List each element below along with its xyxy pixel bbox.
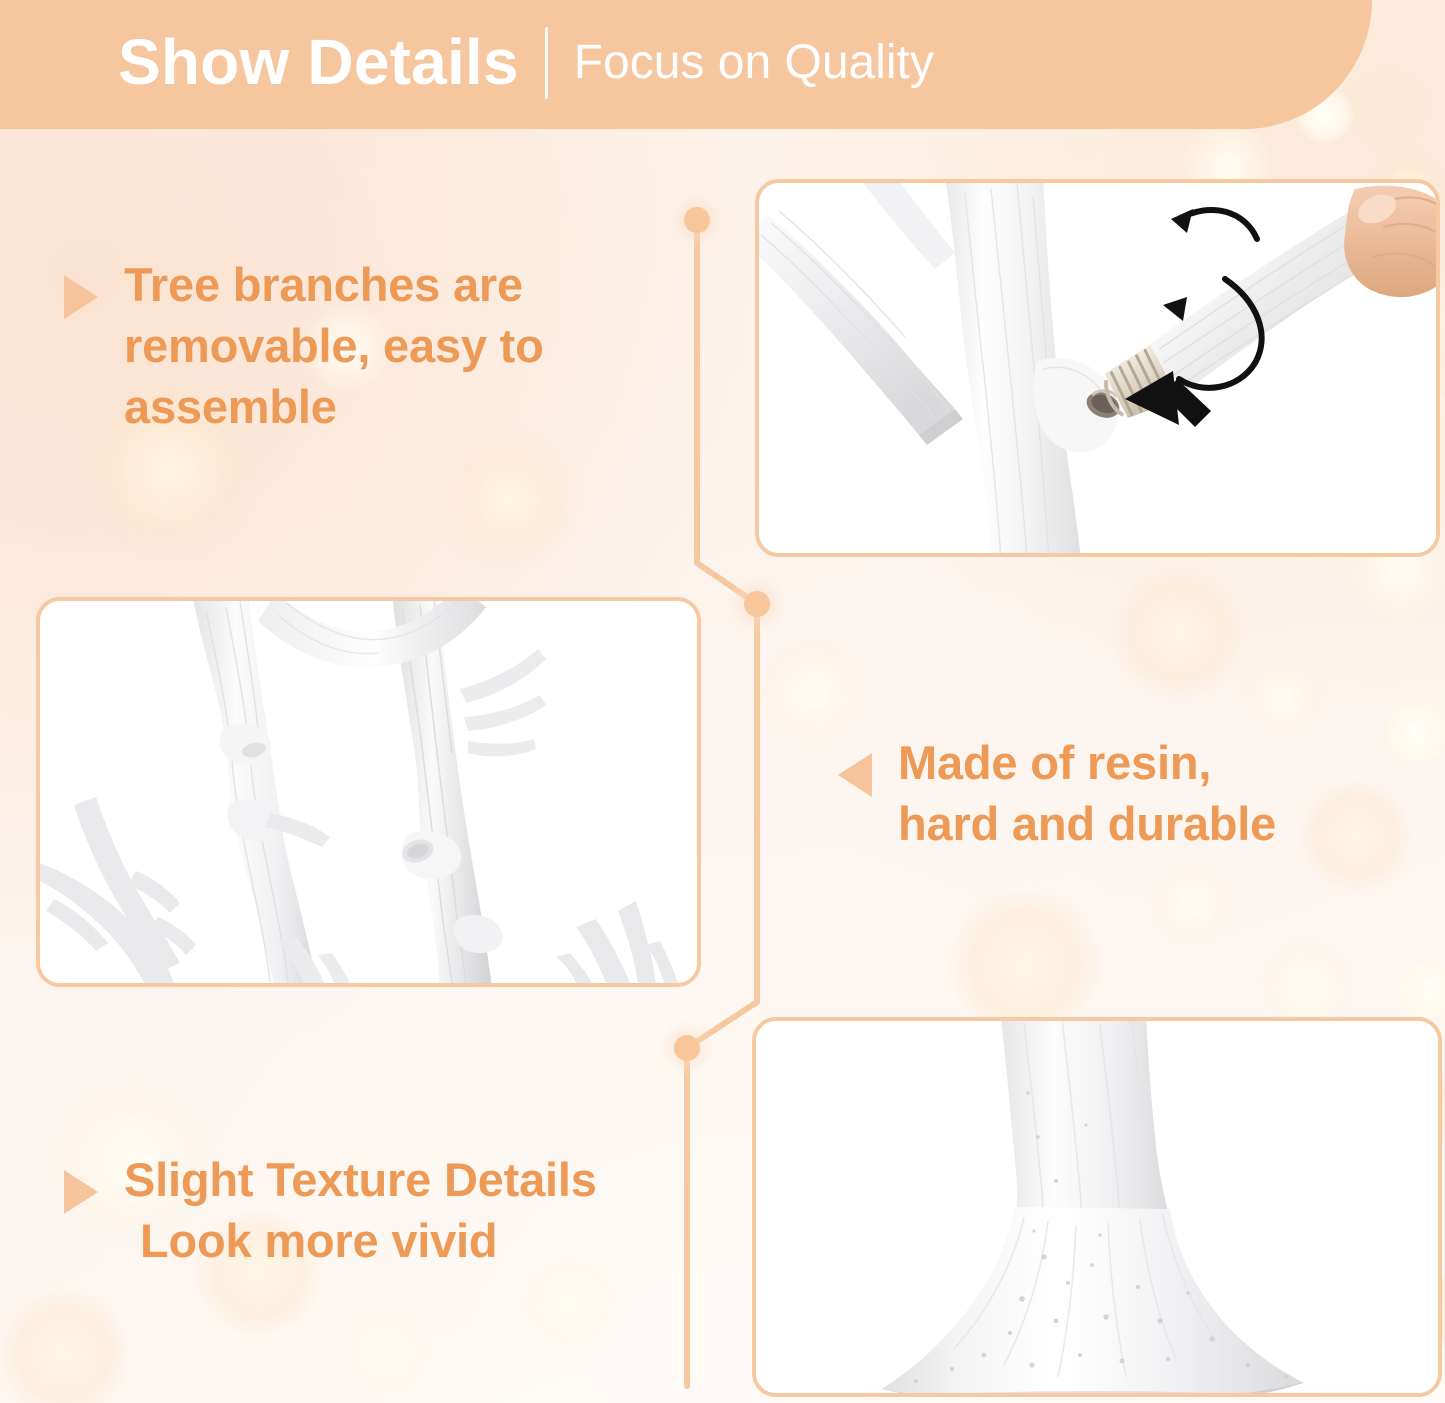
- feature-texture: Slight Texture Details Look more vivid: [64, 1157, 724, 1271]
- bokeh-light: [438, 430, 578, 570]
- feature-texture-text: Slight Texture Details Look more vivid: [124, 1149, 597, 1271]
- feature-removable-text: Tree branches are removable, easy to ass…: [124, 254, 544, 437]
- branches-photo: [40, 601, 697, 983]
- feature-resin-line-2: hard and durable: [898, 797, 1276, 850]
- assembly-illustration: [759, 183, 1436, 553]
- connector-path-upper: [697, 226, 757, 604]
- branches-illustration: [40, 601, 697, 983]
- title-divider: [545, 27, 548, 99]
- bokeh-light: [760, 640, 868, 748]
- feature-texture-line-2: Look more vivid: [124, 1210, 597, 1271]
- bokeh-light: [340, 1306, 432, 1398]
- header-banner-content: Show Details Focus on Quality: [118, 0, 934, 129]
- panel-base-photo: [752, 1017, 1442, 1397]
- header-banner: Show Details Focus on Quality: [0, 0, 1372, 129]
- triangle-right-icon: [64, 1170, 98, 1214]
- feature-resin-text: Made of resin, hard and durable: [898, 732, 1276, 854]
- feature-removable: Tree branches are removable, easy to ass…: [64, 262, 674, 437]
- feature-texture-line-1: Slight Texture Details: [124, 1153, 597, 1206]
- bokeh-light: [1398, 960, 1445, 1020]
- infographic-page: Show Details Focus on Quality: [0, 0, 1445, 1403]
- feature-removable-line-1: Tree branches are: [124, 258, 523, 311]
- triangle-left-icon: [838, 753, 872, 797]
- panel-assembly-photo: [755, 179, 1440, 557]
- feature-removable-line-3: assemble: [124, 380, 337, 433]
- base-photo: [756, 1021, 1438, 1393]
- base-illustration: [756, 1021, 1438, 1393]
- page-subtitle: Focus on Quality: [574, 39, 934, 87]
- panel-branches-photo: [36, 597, 701, 987]
- connector-dot-base: [674, 1035, 700, 1061]
- connector-dot-assembly: [684, 207, 710, 233]
- connector-dot-halo: [657, 1018, 717, 1078]
- bokeh-light: [1244, 660, 1322, 738]
- feature-resin-line-1: Made of resin,: [898, 736, 1211, 789]
- connector-dot-halo: [727, 574, 787, 634]
- triangle-right-icon: [64, 275, 98, 319]
- feature-resin: Made of resin, hard and durable: [838, 740, 1398, 854]
- assembly-photo: [759, 183, 1436, 553]
- bokeh-light: [0, 1290, 128, 1403]
- connector-dot-resin: [744, 591, 770, 617]
- bokeh-light: [1112, 566, 1244, 698]
- bokeh-light: [1150, 860, 1236, 946]
- page-title: Show Details: [118, 30, 519, 94]
- feature-removable-line-2: removable, easy to: [124, 319, 544, 372]
- connector-dot-halo: [667, 190, 727, 250]
